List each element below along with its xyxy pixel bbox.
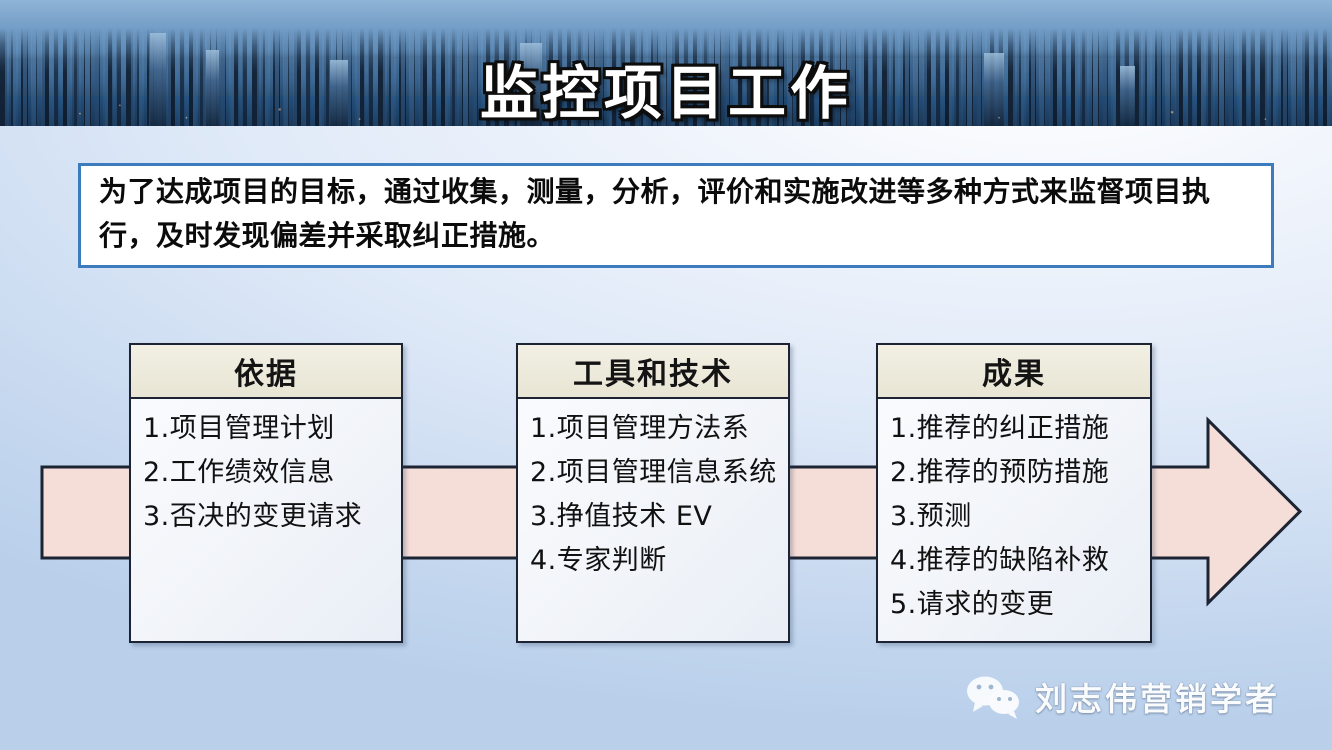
banner-header: 监控项目工作 bbox=[0, 0, 1332, 126]
list-item: 4.专家判断 bbox=[530, 539, 782, 583]
list-item: 5.请求的变更 bbox=[890, 583, 1144, 627]
description-text: 为了达成项目的目标，通过收集，测量，分析，评价和实施改进等多种方式来监督项目执行… bbox=[81, 164, 1271, 268]
list-item: 4.推荐的缺陷补救 bbox=[890, 539, 1144, 583]
list-item: 1.项目管理计划 bbox=[143, 407, 395, 451]
list-item: 2.推荐的预防措施 bbox=[890, 451, 1144, 495]
inputs-box-header: 依据 bbox=[131, 345, 401, 399]
slide-canvas: 监控项目工作 为了达成项目的目标，通过收集，测量，分析，评价和实施改进等多种方式… bbox=[0, 0, 1332, 750]
list-item: 3.否决的变更请求 bbox=[143, 495, 395, 539]
list-item: 2.工作绩效信息 bbox=[143, 451, 395, 495]
inputs-box: 依据 1.项目管理计划 2.工作绩效信息 3.否决的变更请求 bbox=[129, 343, 403, 643]
description-box: 为了达成项目的目标，通过收集，测量，分析，评价和实施改进等多种方式来监督项目执行… bbox=[78, 163, 1274, 268]
outputs-box: 成果 1.推荐的纠正措施 2.推荐的预防措施 3.预测 4.推荐的缺陷补救 5.… bbox=[876, 343, 1152, 643]
tools-techniques-box-header: 工具和技术 bbox=[518, 345, 788, 399]
list-item: 2.项目管理信息系统 bbox=[530, 451, 782, 495]
outputs-box-header: 成果 bbox=[878, 345, 1150, 399]
list-item: 1.项目管理方法系 bbox=[530, 407, 782, 451]
list-item: 3.挣值技术 EV bbox=[530, 495, 782, 539]
list-item: 3.预测 bbox=[890, 495, 1144, 539]
outputs-box-body: 1.推荐的纠正措施 2.推荐的预防措施 3.预测 4.推荐的缺陷补救 5.请求的… bbox=[878, 399, 1150, 641]
watermark-text: 刘志伟营销学者 bbox=[1035, 674, 1280, 720]
list-item: 1.推荐的纠正措施 bbox=[890, 407, 1144, 451]
wechat-icon bbox=[965, 674, 1021, 720]
watermark: 刘志伟营销学者 bbox=[965, 674, 1280, 720]
tools-techniques-box-body: 1.项目管理方法系 2.项目管理信息系统 3.挣值技术 EV 4.专家判断 bbox=[518, 399, 788, 641]
tools-techniques-box: 工具和技术 1.项目管理方法系 2.项目管理信息系统 3.挣值技术 EV 4.专… bbox=[516, 343, 790, 643]
inputs-box-body: 1.项目管理计划 2.工作绩效信息 3.否决的变更请求 bbox=[131, 399, 401, 641]
page-title: 监控项目工作 bbox=[0, 46, 1332, 126]
